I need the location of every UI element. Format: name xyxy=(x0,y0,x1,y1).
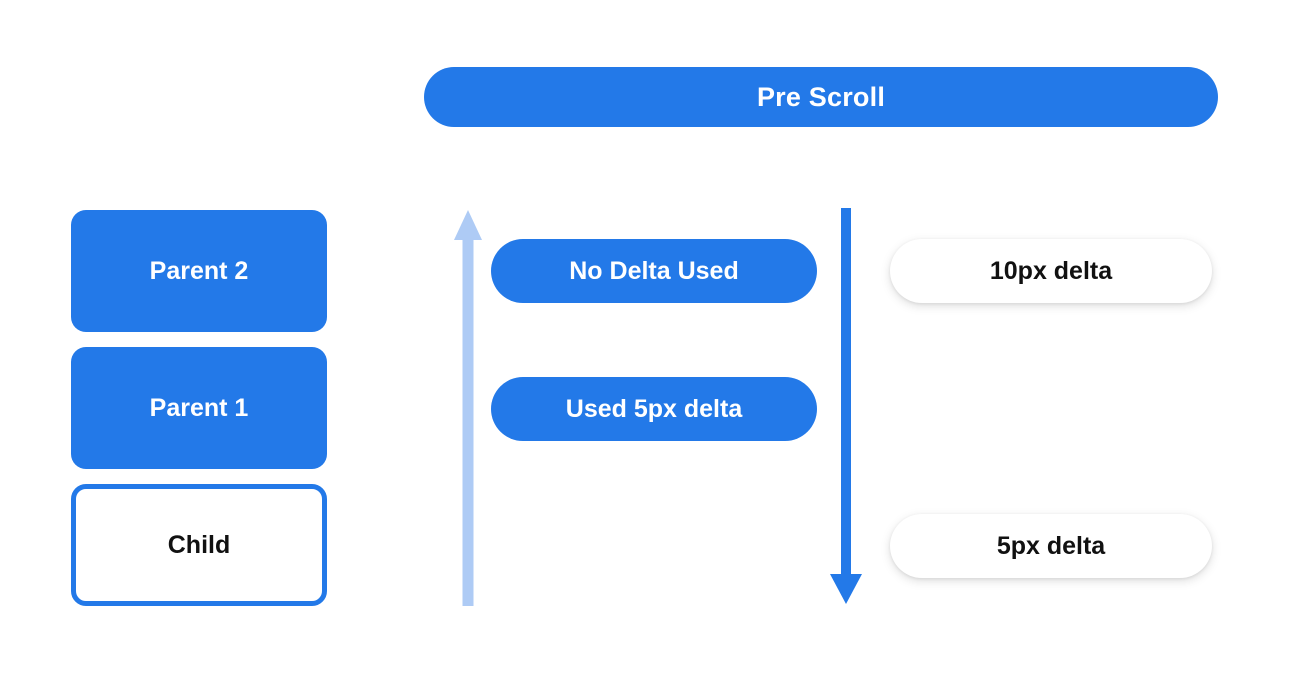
pill-used-5px-delta: Used 5px delta xyxy=(491,377,817,441)
diagram-canvas: Pre Scroll Parent 2 Parent 1 Child No De… xyxy=(0,0,1312,680)
pill-10px-delta: 10px delta xyxy=(890,239,1212,303)
box-parent-2: Parent 2 xyxy=(71,210,327,332)
pre-scroll-header-bar: Pre Scroll xyxy=(424,67,1218,127)
pill-5px-delta: 5px delta xyxy=(890,514,1212,578)
scroll-up-arrow-icon xyxy=(450,208,486,606)
pill-used-5px-delta-label: Used 5px delta xyxy=(566,395,742,424)
box-child: Child xyxy=(71,484,327,606)
box-child-label: Child xyxy=(168,531,231,560)
pill-no-delta-used-label: No Delta Used xyxy=(569,257,738,286)
scroll-down-arrow-icon xyxy=(824,208,868,606)
pre-scroll-header-label: Pre Scroll xyxy=(757,82,885,113)
box-parent-1: Parent 1 xyxy=(71,347,327,469)
pill-5px-delta-label: 5px delta xyxy=(997,532,1105,561)
box-parent-2-label: Parent 2 xyxy=(150,257,249,286)
pill-no-delta-used: No Delta Used xyxy=(491,239,817,303)
pill-10px-delta-label: 10px delta xyxy=(990,257,1112,286)
box-parent-1-label: Parent 1 xyxy=(150,394,249,423)
